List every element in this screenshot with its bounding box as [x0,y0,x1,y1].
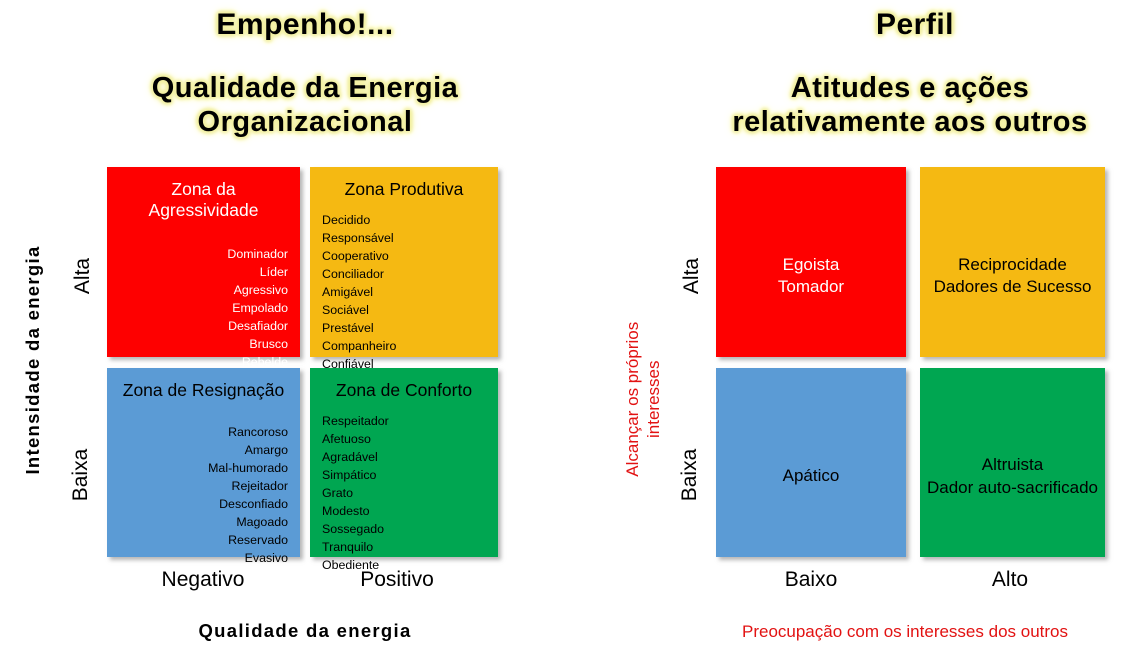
trait-item: Amargo [119,441,288,459]
left-y-axis-high-label: Alta [71,201,95,351]
trait-item: Magoado [119,513,288,531]
trait-item: Amigável [322,283,486,301]
quadrant-apatico[interactable]: Apático [716,368,906,557]
quadrant-altruista[interactable]: Altruista Dador auto-sacrificado [920,368,1105,557]
quadrant-zona-resignacao[interactable]: Zona de Resignação Rancoroso Amargo Mal-… [107,368,300,557]
trait-item: Responsável [322,229,486,247]
left-panel-main-title: Empenho!... [110,8,500,43]
trait-item: Cooperativo [322,247,486,265]
trait-item: Mal-humorado [119,459,288,477]
trait-item: Sossegado [322,520,486,538]
trait-item: Conciliador [322,265,486,283]
left-x-axis-left-label: Negativo [118,568,288,592]
trait-item: Líder [119,263,288,281]
diagram-canvas: Empenho!... Qualidade da Energia Organiz… [0,0,1122,661]
left-x-axis-title: Qualidade da energia [105,620,505,642]
trait-item: Desafiador [119,317,288,335]
quadrant-title: Zona de Resignação [119,380,288,401]
right-y-axis-high-label: Alta [680,201,704,351]
trait-list: Dominador Líder Agressivo Empolado Desaf… [119,245,288,371]
trait-item: Dominador [119,245,288,263]
trait-list: Respeitador Afetuoso Agradável Simpático… [322,412,486,574]
trait-item: Rancoroso [119,423,288,441]
quadrant-label: Apático [783,465,840,487]
trait-item: Companheiro [322,337,486,355]
quadrant-title: Zona de Conforto [322,380,486,401]
quadrant-title: Zona da Agressividade [119,179,288,221]
left-y-axis-title: Intensidade da energia [22,180,44,540]
trait-item: Respeitador [322,412,486,430]
right-y-axis-title: Alcançar os próprios interesses [622,254,665,544]
quadrant-reciprocidade[interactable]: Reciprocidade Dadores de Sucesso [920,167,1105,357]
trait-item: Desconfiado [119,495,288,513]
quadrant-label: Reciprocidade Dadores de Sucesso [934,254,1092,298]
trait-item: Afetuoso [322,430,486,448]
trait-item: Reservado [119,531,288,549]
right-panel-subtitle: Atitudes e ações relativamente aos outro… [700,72,1120,139]
trait-item: Grato [322,484,486,502]
right-panel-main-title: Perfil [720,8,1110,43]
trait-list: Rancoroso Amargo Mal-humorado Rejeitador… [119,423,288,567]
trait-item: Empolado [119,299,288,317]
trait-item: Agressivo [119,281,288,299]
quadrant-zona-conforto[interactable]: Zona de Conforto Respeitador Afetuoso Ag… [310,368,498,557]
trait-item: Tranquilo [322,538,486,556]
left-x-axis-right-label: Positivo [312,568,482,592]
trait-item: Simpático [322,466,486,484]
right-x-axis-right-label: Alto [925,568,1095,592]
quadrant-label: Egoista Tomador [778,254,844,298]
trait-item: Modesto [322,502,486,520]
trait-item: Prestável [322,319,486,337]
trait-item: Brusco [119,335,288,353]
right-x-axis-left-label: Baixo [726,568,896,592]
quadrant-zona-agressividade[interactable]: Zona da Agressividade Dominador Líder Ag… [107,167,300,357]
trait-item: Rejeitador [119,477,288,495]
quadrant-zona-produtiva[interactable]: Zona Produtiva Decidido Responsável Coop… [310,167,498,357]
left-y-axis-low-label: Baixa [69,395,93,555]
right-y-axis-low-label: Baixa [678,395,702,555]
trait-item: Agradável [322,448,486,466]
trait-list: Decidido Responsável Cooperativo Concili… [322,211,486,373]
quadrant-title: Zona Produtiva [322,179,486,200]
trait-item: Decidido [322,211,486,229]
trait-item: Sociável [322,301,486,319]
quadrant-label: Altruista Dador auto-sacrificado [927,454,1098,498]
right-x-axis-title: Preocupação com os interesses dos outros [695,622,1115,642]
quadrant-egoista-tomador[interactable]: Egoista Tomador [716,167,906,357]
trait-item: Evasivo [119,549,288,567]
left-panel-subtitle: Qualidade da Energia Organizacional [70,72,540,139]
